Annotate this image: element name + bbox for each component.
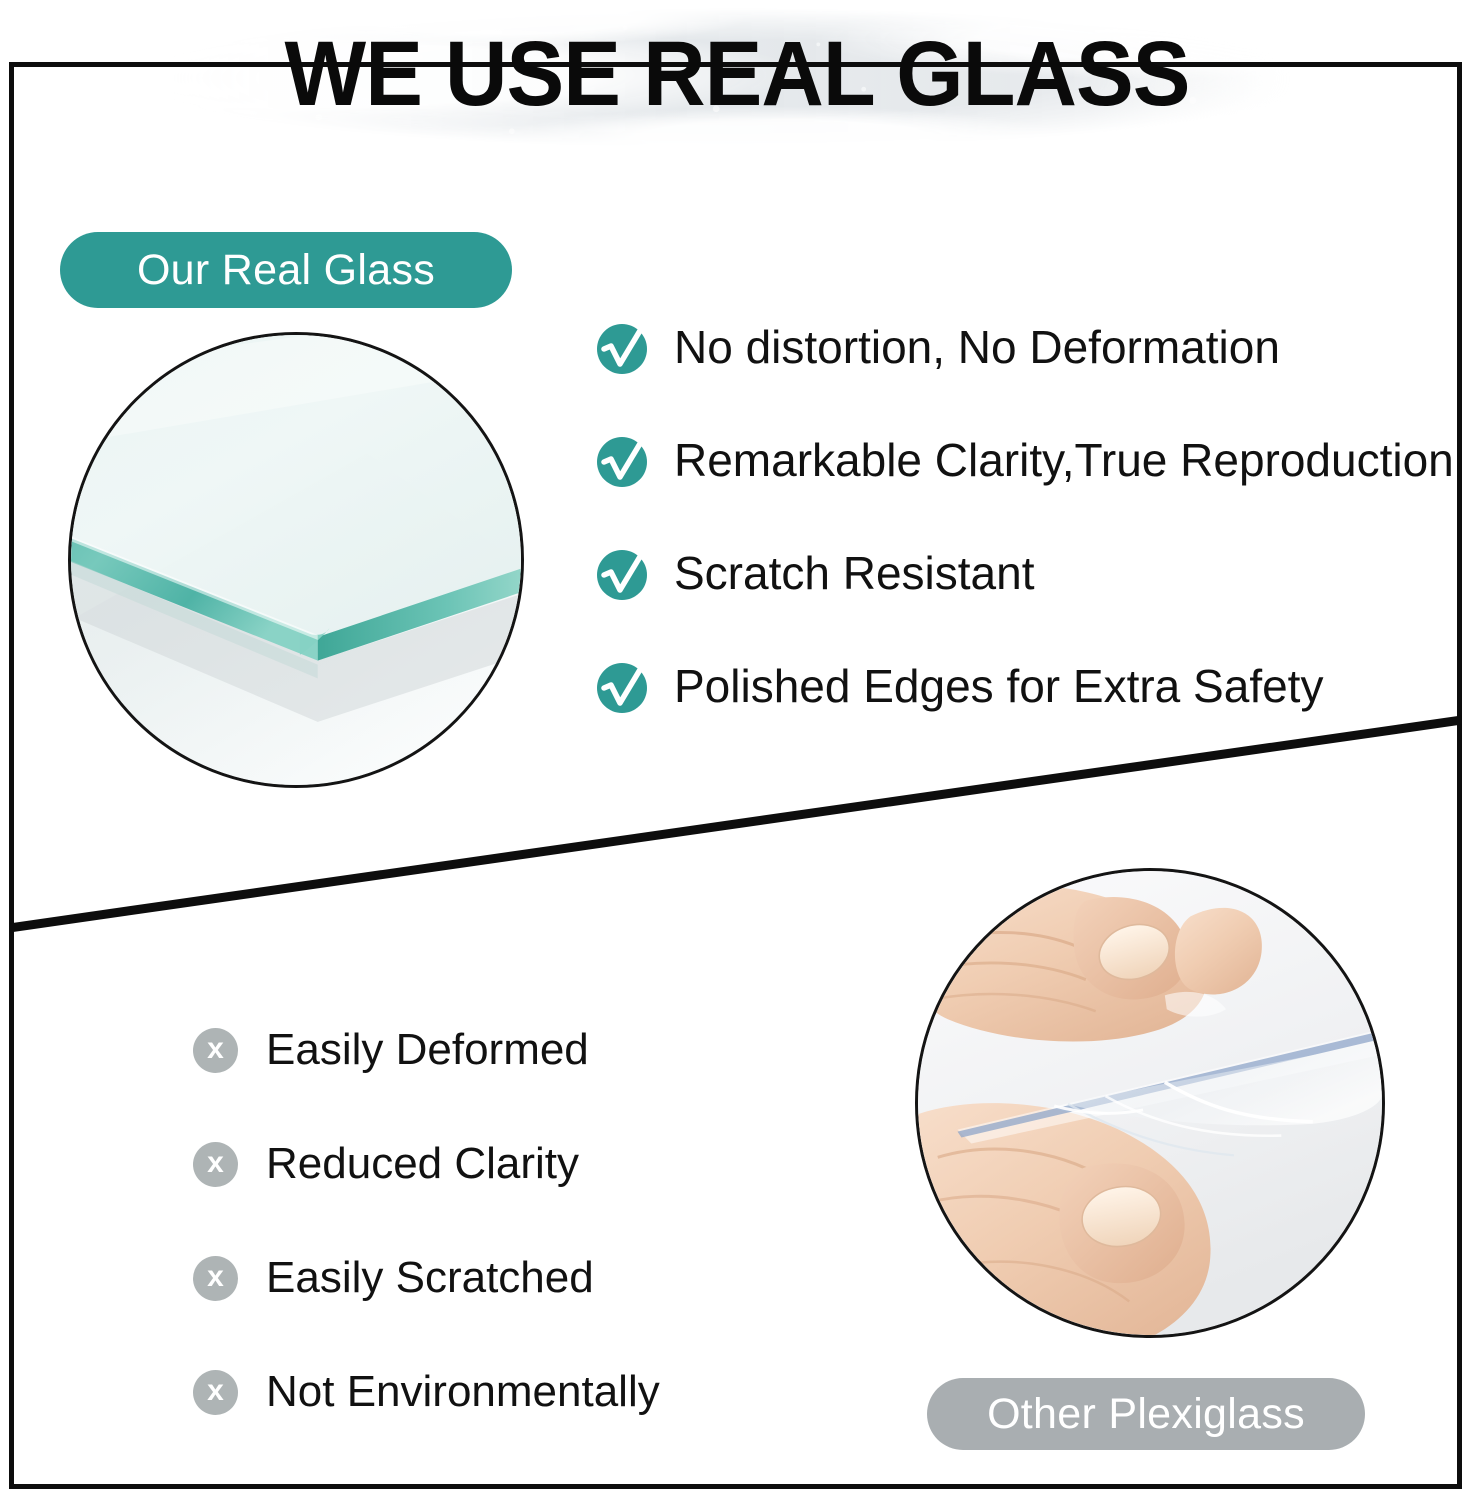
- x-icon: x: [193, 1028, 238, 1073]
- check-icon: [594, 432, 650, 488]
- pros-list-item-label: No distortion, No Deformation: [674, 320, 1280, 374]
- pros-list-item-label: Remarkable Clarity,True Reproduction: [674, 433, 1454, 487]
- cons-list-item: x Not Environmentally: [193, 1335, 813, 1449]
- pros-feature-list: No distortion, No Deformation Remarkable…: [594, 290, 1454, 742]
- check-icon: [594, 545, 650, 601]
- x-icon: x: [193, 1256, 238, 1301]
- cons-list-item: x Reduced Clarity: [193, 1107, 813, 1221]
- cons-list-item: x Easily Scratched: [193, 1221, 813, 1335]
- x-icon: x: [193, 1370, 238, 1415]
- cons-feature-list: x Easily Deformed x Reduced Clarity x Ea…: [193, 993, 813, 1449]
- plexiglass-photo: [915, 868, 1385, 1338]
- page-title: WE USE REAL GLASS: [44, 28, 1430, 120]
- check-icon: [594, 319, 650, 375]
- x-icon: x: [193, 1142, 238, 1187]
- real-glass-illustration: [71, 335, 521, 785]
- cons-list-item-label: Not Environmentally: [266, 1367, 660, 1417]
- pros-list-item: Scratch Resistant: [594, 516, 1454, 629]
- pros-list-item-label: Scratch Resistant: [674, 546, 1034, 600]
- pros-list-item: Polished Edges for Extra Safety: [594, 629, 1454, 742]
- plexiglass-illustration: [918, 871, 1382, 1335]
- cons-list-item-label: Reduced Clarity: [266, 1139, 579, 1189]
- real-glass-photo: [68, 332, 524, 788]
- badge-other-plexiglass: Other Plexiglass: [927, 1378, 1365, 1450]
- pros-list-item: No distortion, No Deformation: [594, 290, 1454, 403]
- cons-list-item-label: Easily Deformed: [266, 1025, 589, 1075]
- check-icon: [594, 658, 650, 714]
- pros-list-item: Remarkable Clarity,True Reproduction: [594, 403, 1454, 516]
- cons-list-item: x Easily Deformed: [193, 993, 813, 1107]
- cons-list-item-label: Easily Scratched: [266, 1253, 594, 1303]
- badge-our-real-glass-label: Our Real Glass: [137, 246, 435, 295]
- badge-our-real-glass: Our Real Glass: [60, 232, 512, 308]
- pros-list-item-label: Polished Edges for Extra Safety: [674, 659, 1323, 713]
- badge-other-plexiglass-label: Other Plexiglass: [987, 1390, 1305, 1439]
